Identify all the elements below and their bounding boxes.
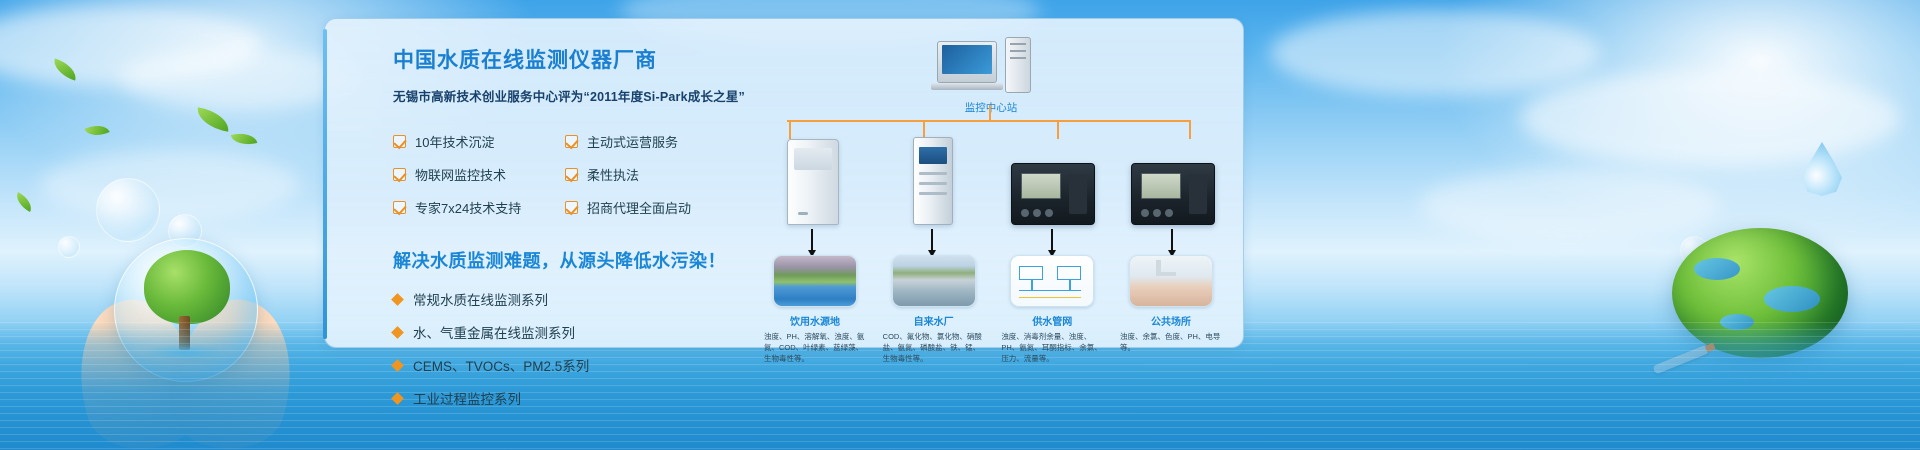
list-item[interactable]: 常规水质在线监测系列: [393, 289, 753, 309]
scene-title: 自来水厂: [914, 313, 954, 328]
diamond-bullet-icon: [391, 392, 404, 405]
bubble-shape: [58, 236, 80, 258]
feature-checklist: 10年技术沉淀 主动式运营服务 物联网监控技术 柔性执法 专家7x24技术支持 …: [393, 132, 753, 217]
down-arrow-icon: [1051, 229, 1053, 251]
diamond-bullet-icon: [391, 326, 404, 339]
scene-cell[interactable]: 自来水厂 COD、氟化物、氯化物、硝酸盐、氨氮、磷酸盐、铁、锰、生物毒性等。: [882, 255, 986, 365]
analyzer-rack-icon: [913, 137, 953, 225]
scene-description: 浊度、余氯、色度、PH、电导等。: [1120, 332, 1222, 354]
diamond-bullet-icon: [391, 359, 404, 372]
scene-cell[interactable]: 公共场所 浊度、余氯、色度、PH、电导等。: [1119, 255, 1223, 365]
feature-label: 主动式运营服务: [587, 132, 678, 151]
checkbox-icon: [393, 168, 406, 181]
feature-item[interactable]: 物联网监控技术: [393, 165, 565, 184]
checkbox-icon: [565, 201, 578, 214]
system-topology-diagram: 监控中心站: [745, 33, 1235, 341]
device-cell[interactable]: [883, 137, 983, 225]
handwashing-tap-photo: [1129, 255, 1213, 307]
page-subtitle: 无锡市高新技术创业服务中心评为“2011年度Si-Park成长之星”: [393, 86, 753, 105]
product-series-list: 常规水质在线监测系列 水、气重金属在线监测系列 CEMS、TVOCs、PM2.5…: [393, 289, 753, 408]
feature-label: 物联网监控技术: [415, 165, 506, 184]
checkbox-icon: [393, 201, 406, 214]
feature-label: 招商代理全面启动: [587, 198, 691, 217]
pipeline-schematic-icon: [1010, 255, 1094, 307]
pc-tower-icon: [1005, 37, 1031, 93]
scene-cell[interactable]: 饮用水源地 浊度、PH、溶解氧、浊度、氨氮、COD、叶绿素、蓝绿藻、生物毒性等。: [763, 255, 867, 365]
checkbox-icon: [565, 168, 578, 181]
down-arrow-icon: [931, 229, 933, 251]
panel-left-column: 中国水质在线监测仪器厂商 无锡市高新技术创业服务中心评为“2011年度Si-Pa…: [393, 47, 753, 408]
page-title: 中国水质在线监测仪器厂商: [393, 47, 753, 74]
feature-item[interactable]: 专家7x24技术支持: [393, 198, 565, 217]
scene-cell[interactable]: 供水管网 浊度、消毒剂余量、浊度、PH、氨氮、耳酮指标、余氯、压力、流量等。: [1000, 255, 1104, 365]
cloud-shape: [1520, 70, 1900, 166]
keyboard-icon: [931, 83, 1003, 90]
list-item[interactable]: 水、气重金属在线监测系列: [393, 322, 753, 342]
cloud-shape: [40, 150, 300, 220]
feature-label: 专家7x24技术支持: [415, 198, 521, 217]
device-cell[interactable]: [1123, 137, 1223, 225]
feature-item[interactable]: 10年技术沉淀: [393, 132, 565, 151]
section-heading: 解决水质监测难题，从源头降低水污染！: [393, 247, 753, 273]
diamond-bullet-icon: [391, 293, 404, 306]
scene-description: 浊度、PH、溶解氧、浊度、氨氮、COD、叶绿素、蓝绿藻、生物毒性等。: [764, 332, 866, 365]
leaf-icon: [231, 129, 258, 148]
controller-panel-icon: [1011, 163, 1095, 225]
application-scene-row: 饮用水源地 浊度、PH、溶解氧、浊度、氨氮、COD、叶绿素、蓝绿藻、生物毒性等。…: [763, 255, 1223, 365]
leaf-icon: [195, 107, 232, 132]
list-item-label: CEMS、TVOCs、PM2.5系列: [413, 355, 589, 375]
checkbox-icon: [393, 135, 406, 148]
cloud-shape: [1270, 10, 1600, 96]
checkbox-icon: [565, 135, 578, 148]
tree-crown-shape: [144, 250, 230, 324]
scene-description: COD、氟化物、氯化物、硝酸盐、氨氮、磷酸盐、铁、锰、生物毒性等。: [883, 332, 985, 365]
monitoring-center-node[interactable]: 监控中心站: [931, 41, 1051, 115]
feature-label: 柔性执法: [587, 165, 639, 184]
feature-item[interactable]: 招商代理全面启动: [565, 198, 753, 217]
feature-item[interactable]: 主动式运营服务: [565, 132, 753, 151]
panel-accent-bar: [323, 29, 327, 339]
topology-connector-lines: [787, 105, 1191, 139]
list-item-label: 水、气重金属在线监测系列: [413, 322, 575, 342]
scene-title: 公共场所: [1151, 313, 1191, 328]
cloud-shape: [1420, 168, 1720, 242]
device-cell[interactable]: [763, 137, 863, 225]
feature-label: 10年技术沉淀: [415, 132, 494, 151]
water-cabinet-icon: [787, 139, 839, 225]
river-reservoir-photo: [773, 255, 857, 307]
scene-title: 供水管网: [1032, 313, 1072, 328]
leaf-icon: [84, 120, 109, 141]
scene-title: 饮用水源地: [790, 313, 840, 328]
leaf-icon: [12, 192, 35, 212]
down-arrow-icon: [1171, 229, 1173, 251]
water-treatment-plant-photo: [892, 255, 976, 307]
list-item-label: 常规水质在线监测系列: [413, 289, 548, 309]
controller-panel-icon: [1131, 163, 1215, 225]
desktop-computer-icon: [931, 41, 1051, 95]
monitor-icon: [937, 41, 997, 83]
device-cell[interactable]: [1003, 137, 1103, 225]
scene-description: 浊度、消毒剂余量、浊度、PH、氨氮、耳酮指标、余氯、压力、流量等。: [1001, 332, 1103, 365]
down-arrow-icon: [811, 229, 813, 251]
list-item-label: 工业过程监控系列: [413, 388, 521, 408]
content-panel: 中国水质在线监测仪器厂商 无锡市高新技术创业服务中心评为“2011年度Si-Pa…: [324, 18, 1244, 348]
feature-item[interactable]: 柔性执法: [565, 165, 753, 184]
list-item[interactable]: CEMS、TVOCs、PM2.5系列: [393, 355, 753, 375]
device-row: [763, 137, 1223, 225]
list-item[interactable]: 工业过程监控系列: [393, 388, 753, 408]
